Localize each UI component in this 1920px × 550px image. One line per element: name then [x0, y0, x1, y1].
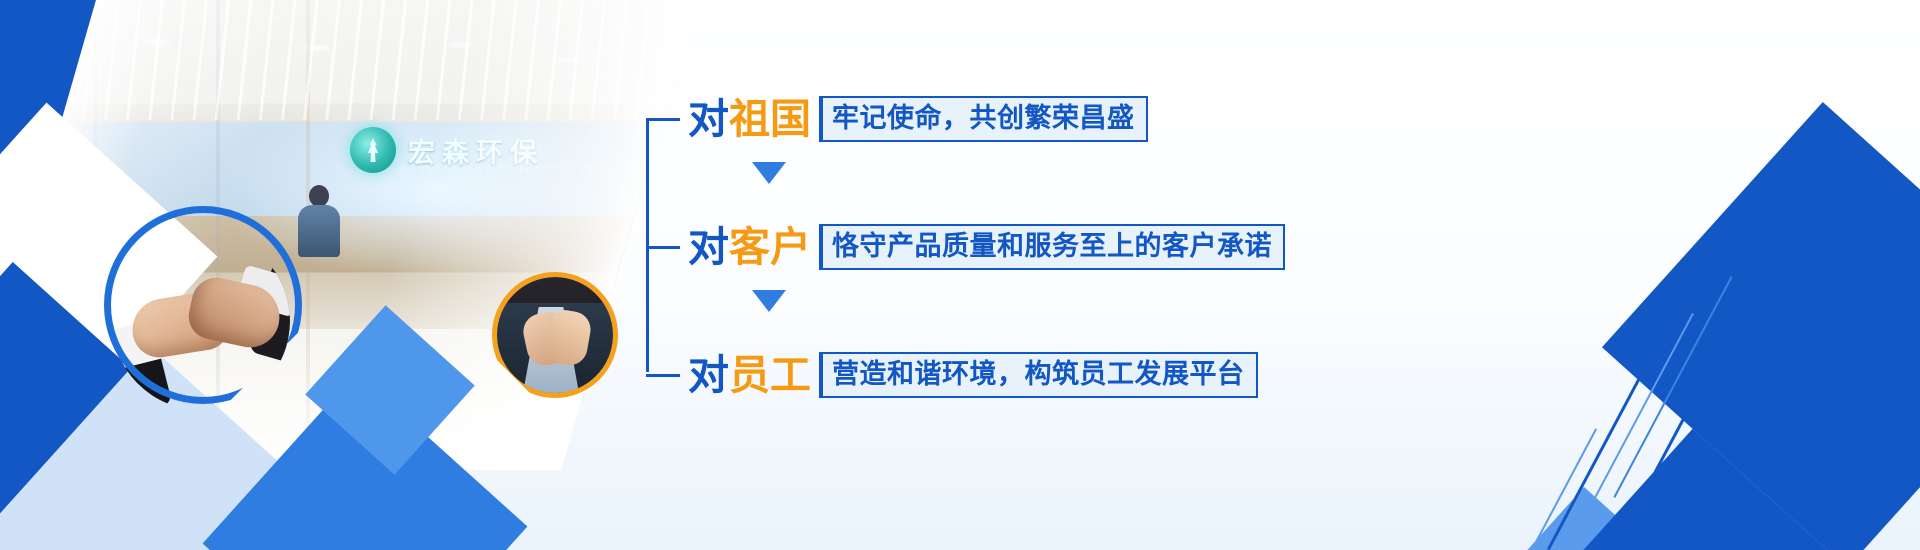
statement-box: 恪守产品质量和服务至上的客户承诺	[819, 224, 1285, 270]
triangle-down-icon	[752, 290, 786, 312]
branch-connector	[646, 118, 680, 121]
statement-box: 牢记使命，共创繁荣昌盛	[819, 96, 1148, 142]
culture-banner: 宏森环保 HONGSEN ENVIRONMENTAL PROTECTION	[0, 0, 1920, 550]
statement-row-guojia: 对祖国 牢记使命，共创繁荣昌盛	[646, 92, 1148, 146]
lead-keyword: 客户	[729, 223, 811, 271]
statement-lead: 对客户	[688, 227, 811, 268]
lead-keyword: 员工	[729, 351, 811, 399]
branch-connector	[646, 374, 680, 377]
lead-prefix: 对	[688, 351, 729, 399]
statement-box: 营造和谐环境，构筑员工发展平台	[819, 352, 1258, 398]
statement-lead: 对祖国	[688, 99, 811, 140]
statement-row-yuangong: 对员工 营造和谐环境，构筑员工发展平台	[646, 348, 1258, 402]
branch-connector	[646, 246, 680, 249]
lead-prefix: 对	[688, 223, 729, 271]
culture-statements: 对祖国 牢记使命，共创繁荣昌盛 对客户 恪守产品质量和服务至上的客户承诺 对员工…	[646, 72, 1346, 402]
lead-keyword: 祖国	[729, 95, 811, 143]
lead-prefix: 对	[688, 95, 729, 143]
triangle-down-icon	[752, 162, 786, 184]
statement-lead: 对员工	[688, 355, 811, 396]
statement-row-kehu: 对客户 恪守产品质量和服务至上的客户承诺	[646, 220, 1285, 274]
